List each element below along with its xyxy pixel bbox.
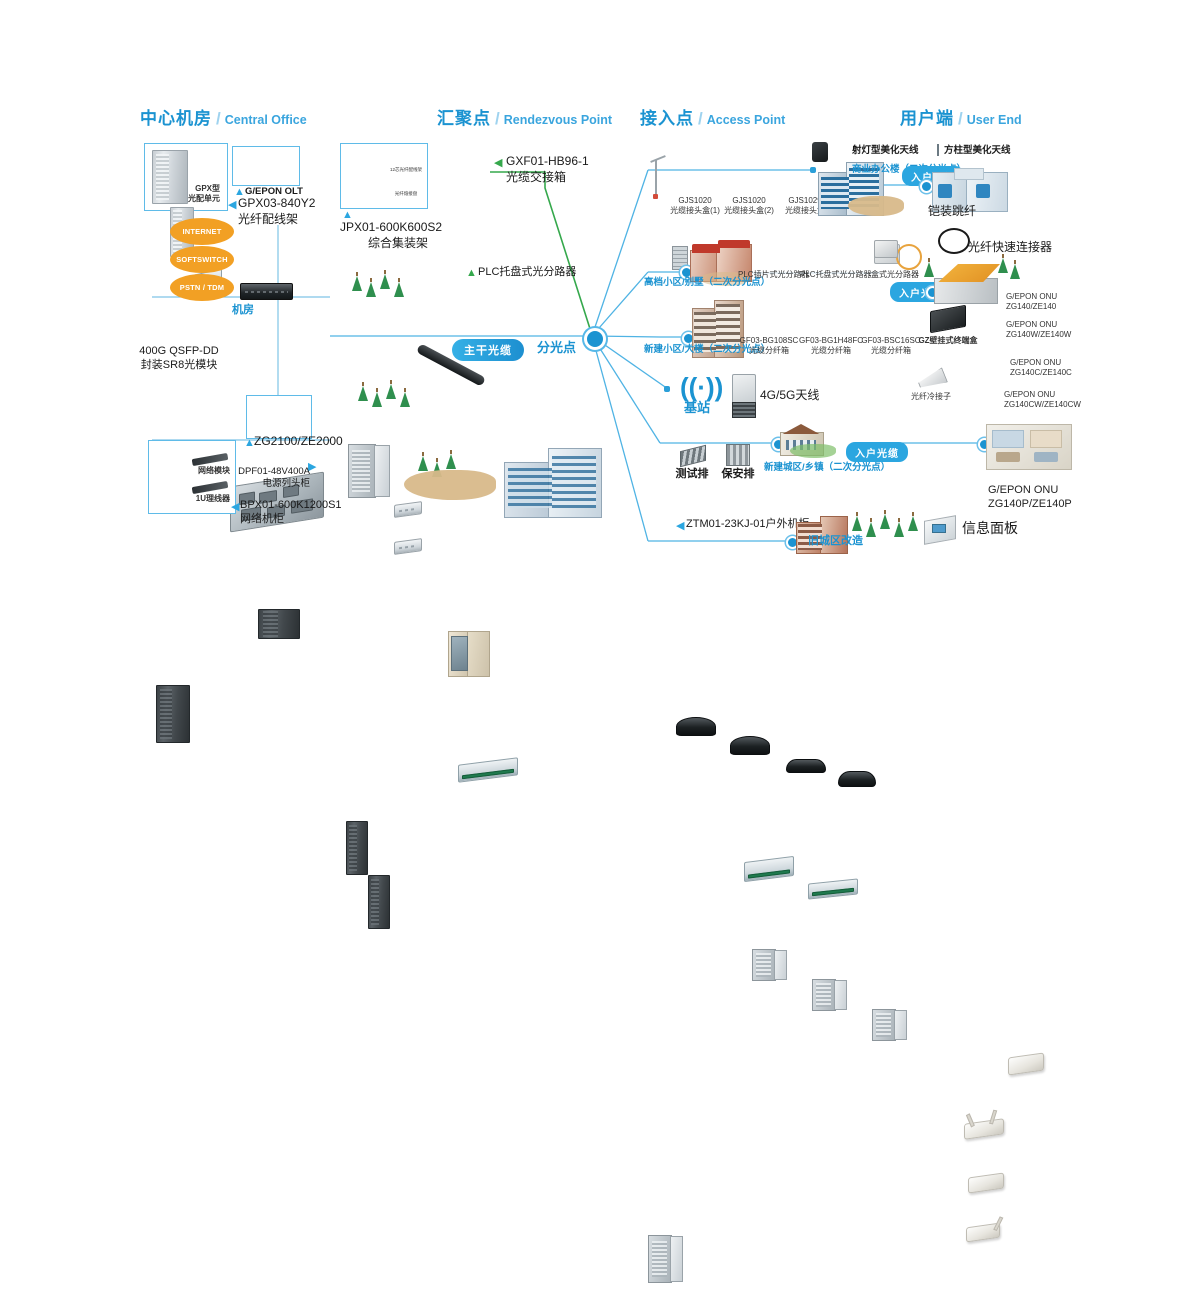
base-station-label: 基站 bbox=[684, 400, 710, 416]
test-rack-icon bbox=[680, 445, 706, 467]
house-icon bbox=[930, 262, 1000, 302]
patch-panel-icon bbox=[394, 501, 422, 518]
odf-model-label: GPX03-840Y2 bbox=[238, 196, 315, 211]
tag-softswitch: SOFTSWITCH bbox=[170, 246, 234, 273]
node-dot-basestation[interactable] bbox=[664, 386, 670, 392]
fiber-box-icon-1 bbox=[752, 949, 786, 979]
outdoor-cabinet-icon bbox=[648, 1235, 682, 1281]
fiber-coil-icon bbox=[896, 244, 922, 270]
pole-arm-icon bbox=[650, 155, 666, 163]
plc-tray-splitter-icon-2 bbox=[808, 878, 858, 899]
test-rack-label: 测试排 bbox=[666, 468, 718, 482]
split-point-label: 分光点 bbox=[537, 340, 576, 356]
onu-icon-4 bbox=[966, 1223, 1000, 1243]
tag-internet: INTERNET bbox=[170, 218, 234, 245]
wifi-signal-icon: ((·)) bbox=[680, 372, 723, 403]
plc-tray-splitter-icon bbox=[458, 757, 518, 782]
qsfp-label: 400G QSFP-DD 封装SR8光模块 bbox=[138, 345, 220, 373]
cross-box-caret-icon: ◀ bbox=[494, 158, 502, 169]
outdoor-cabinet-caret-icon: ◀ bbox=[676, 521, 684, 532]
section-heading-user-end: 用户端/User End bbox=[900, 104, 1022, 129]
pole-marker bbox=[653, 194, 658, 199]
cabinet-name-label: 网络机柜 bbox=[240, 513, 284, 527]
odf-caret-icon: ◀ bbox=[228, 200, 236, 211]
onu-label-4: G/EPON ONUZG140CW/ZE140CW bbox=[1004, 390, 1081, 410]
antenna-panel-base-icon bbox=[732, 402, 756, 418]
old-town-label: 旧城区改造 bbox=[808, 535, 863, 549]
section-heading-rendezvous: 汇聚点/Rendezvous Point bbox=[437, 104, 612, 129]
machine-room-label: 机房 bbox=[232, 304, 254, 318]
info-panel-port-icon bbox=[932, 524, 946, 533]
splitter-label-1: PLC插片式光分路器 bbox=[738, 270, 798, 280]
closure-icon-1 bbox=[676, 717, 716, 736]
new-town-label: 新建城区/乡镇（二次分光点） bbox=[764, 462, 890, 474]
power-desc-label: DPF01-48V400A 电源列头柜 bbox=[236, 466, 310, 490]
power-shelf-icon bbox=[258, 609, 300, 639]
closure-icon-4 bbox=[838, 771, 876, 787]
ground-blob-icon bbox=[848, 196, 904, 216]
apartment-interior-icon bbox=[986, 424, 1070, 468]
power-shelf-frame bbox=[246, 395, 312, 439]
cold-splice-icon bbox=[916, 367, 948, 392]
trunk-cable-badge: 主干光缆 bbox=[452, 339, 524, 361]
wall-terminal-label: GZ壁挂式终端盒 bbox=[908, 336, 988, 346]
cable-manager-label: 1U理线器 bbox=[178, 494, 230, 504]
diagram-canvas: 中心机房/Central Office 汇聚点/Rendezvous Point… bbox=[0, 0, 1200, 650]
odf-name-label: 光纤配线架 bbox=[238, 212, 298, 227]
plc-tray-label: PLC托盘式光分路器 bbox=[478, 266, 576, 280]
section-title-en: User End bbox=[967, 113, 1022, 127]
armored-jumper-label: 铠装跳纤 bbox=[928, 204, 976, 219]
plc-tray-caret-icon: ▲ bbox=[466, 268, 477, 279]
section-title-cn: 接入点 bbox=[640, 109, 694, 128]
node-dot-commercial[interactable] bbox=[810, 167, 816, 173]
pole-mast-icon bbox=[655, 160, 657, 196]
onu-icon-2 bbox=[964, 1118, 1004, 1140]
ground-blob-icon bbox=[790, 444, 836, 458]
splitter-label-2: PLC托盘式光分路器 bbox=[800, 270, 862, 280]
label-divider bbox=[937, 144, 939, 156]
integrated-rack-icon bbox=[348, 444, 390, 496]
integrated-rack-frame bbox=[340, 143, 428, 209]
section-heading-access: 接入点/Access Point bbox=[640, 104, 785, 129]
closure-icon-2 bbox=[730, 736, 770, 755]
wall-terminal-icon bbox=[930, 305, 966, 333]
power-model-label: ZG2100/ZE2000 bbox=[254, 434, 343, 449]
fiber-box-icon-3 bbox=[872, 1009, 906, 1039]
info-panel-label: 信息面板 bbox=[962, 520, 1018, 538]
security-rack-label: 保安排 bbox=[712, 468, 764, 482]
olt-frame bbox=[232, 146, 300, 186]
security-rack-icon bbox=[726, 444, 750, 466]
network-module-label: 网络模块 bbox=[178, 466, 230, 476]
section-title-cn: 汇聚点 bbox=[437, 109, 491, 128]
tag-pstn-tdm: PSTN / TDM bbox=[170, 274, 234, 301]
armored-jumper-coil-icon bbox=[938, 228, 970, 254]
closure-icon-3 bbox=[786, 759, 826, 773]
cabinet-caret-icon: ◀ bbox=[231, 502, 239, 513]
split-point-hub[interactable] bbox=[584, 328, 606, 350]
spot-antenna-label: 射灯型美化天线 bbox=[852, 145, 919, 157]
pole-antenna-label: 方柱型美化天线 bbox=[944, 145, 1011, 157]
cabinet-model-label: BPX01-600K1200S1 bbox=[240, 499, 342, 513]
drop-cable-badge-3: 入户光缆 bbox=[846, 442, 908, 462]
section-title-en: Central Office bbox=[225, 113, 307, 127]
spot-antenna-icon bbox=[812, 142, 828, 162]
network-cabinet-icon bbox=[156, 685, 190, 743]
olt-device-icon bbox=[240, 283, 293, 300]
splitter-label-3: 盒式光分路器 bbox=[864, 270, 926, 280]
rack-model-label: JPX01-600K600S2 bbox=[340, 220, 442, 235]
quick-connector-label: 光纤快速连接器 bbox=[968, 240, 1052, 255]
section-heading-central-office: 中心机房/Central Office bbox=[140, 104, 307, 129]
rack-name-label: 综合集装架 bbox=[340, 236, 428, 251]
dark-rack-icon-1 bbox=[346, 821, 368, 875]
quick-connector-icon bbox=[874, 240, 898, 258]
rack-item2-label: 光纤熔接盘 bbox=[386, 191, 426, 197]
onu-label-5: G/EPON ONUZG140P/ZE140P bbox=[988, 484, 1072, 512]
onu-label-2: G/EPON ONUZG140W/ZE140W bbox=[1006, 320, 1071, 340]
gpx-unit-label: GPX型 光配单元 bbox=[168, 184, 220, 204]
section-title-cn: 中心机房 bbox=[140, 109, 212, 128]
cross-box-name-label: 光缆交接箱 bbox=[506, 170, 566, 185]
onu-label-1: G/EPON ONUZG140/ZE140 bbox=[1006, 292, 1057, 312]
rack-item1-label: 12芯光纤配线架 bbox=[386, 167, 426, 173]
cross-box-model-label: GXF01-HB96-1 bbox=[506, 154, 589, 169]
office-building-icon bbox=[504, 448, 600, 516]
dark-rack-icon-2 bbox=[368, 875, 390, 929]
section-title-cn: 用户端 bbox=[900, 109, 954, 128]
onu-icon-1 bbox=[1008, 1052, 1044, 1075]
splice-tray-icon bbox=[394, 538, 422, 555]
onu-label-3: G/EPON ONUZG140C/ZE140C bbox=[1010, 358, 1072, 378]
ground-blob-icon bbox=[404, 470, 496, 500]
cold-splice-label: 光纤冷接子 bbox=[900, 392, 962, 402]
antenna-4g5g-label: 4G/5G天线 bbox=[760, 388, 819, 403]
plc-chip-splitter-icon bbox=[744, 856, 794, 882]
fiber-box-icon-2 bbox=[812, 979, 846, 1009]
cross-connect-cabinet-icon bbox=[448, 631, 490, 675]
section-title-en: Access Point bbox=[707, 113, 786, 127]
section-title-en: Rendezvous Point bbox=[504, 113, 612, 127]
outdoor-cabinet-label: ZTM01-23KJ-01户外机柜 bbox=[686, 518, 809, 532]
onu-icon-3 bbox=[968, 1172, 1004, 1193]
